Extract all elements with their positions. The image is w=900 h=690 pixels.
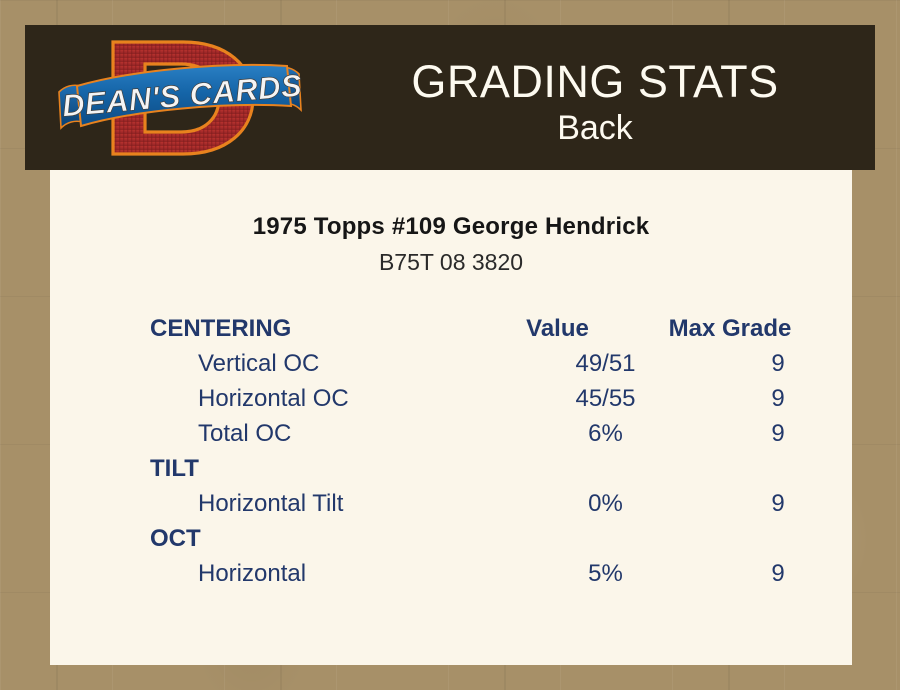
card-title: 1975 Topps #109 George Hendrick: [50, 170, 852, 241]
section-label: OCT: [150, 525, 480, 553]
stat-label: Horizontal: [150, 560, 528, 588]
stat-value: 45/55: [528, 385, 683, 413]
stat-label: Horizontal OC: [150, 385, 528, 413]
stat-max-grade: 9: [683, 490, 873, 518]
stat-label: Vertical OC: [150, 350, 528, 378]
stat-max-grade: 9: [683, 385, 873, 413]
table-section-heading: OCT: [150, 525, 830, 560]
table-row: Total OC 6% 9: [150, 420, 830, 455]
deans-cards-logo[interactable]: DEAN'S CARDS: [55, 30, 305, 165]
table-section-heading: TILT: [150, 455, 830, 490]
table-row: Vertical OC 49/51 9: [150, 350, 830, 385]
stat-max-grade: 9: [683, 350, 873, 378]
stat-value: 0%: [528, 490, 683, 518]
table-row: Horizontal OC 45/55 9: [150, 385, 830, 420]
stat-label: Horizontal Tilt: [150, 490, 528, 518]
column-header-category: CENTERING: [150, 315, 480, 343]
stat-max-grade: 9: [683, 420, 873, 448]
stat-value: 6%: [528, 420, 683, 448]
page-title: GRADING STATS: [411, 56, 778, 108]
stat-value: 49/51: [528, 350, 683, 378]
grading-stats-table: CENTERING Value Max Grade Vertical OC 49…: [150, 315, 830, 595]
stat-label: Total OC: [150, 420, 528, 448]
content-panel: 1975 Topps #109 George Hendrick B75T 08 …: [50, 170, 852, 665]
table-row: Horizontal Tilt 0% 9: [150, 490, 830, 525]
table-row: Horizontal 5% 9: [150, 560, 830, 595]
page-subtitle: Back: [557, 108, 633, 148]
table-header-row: CENTERING Value Max Grade: [150, 315, 830, 350]
column-header-max-grade: Max Grade: [635, 315, 825, 343]
header-title-block: GRADING STATS Back: [315, 25, 875, 170]
column-header-value: Value: [480, 315, 635, 343]
card-serial-number: B75T 08 3820: [50, 241, 852, 276]
section-label: TILT: [150, 455, 480, 483]
stat-value: 5%: [528, 560, 683, 588]
header-bar: DEAN'S CARDS GRADING STATS Back: [25, 25, 875, 170]
stat-max-grade: 9: [683, 560, 873, 588]
